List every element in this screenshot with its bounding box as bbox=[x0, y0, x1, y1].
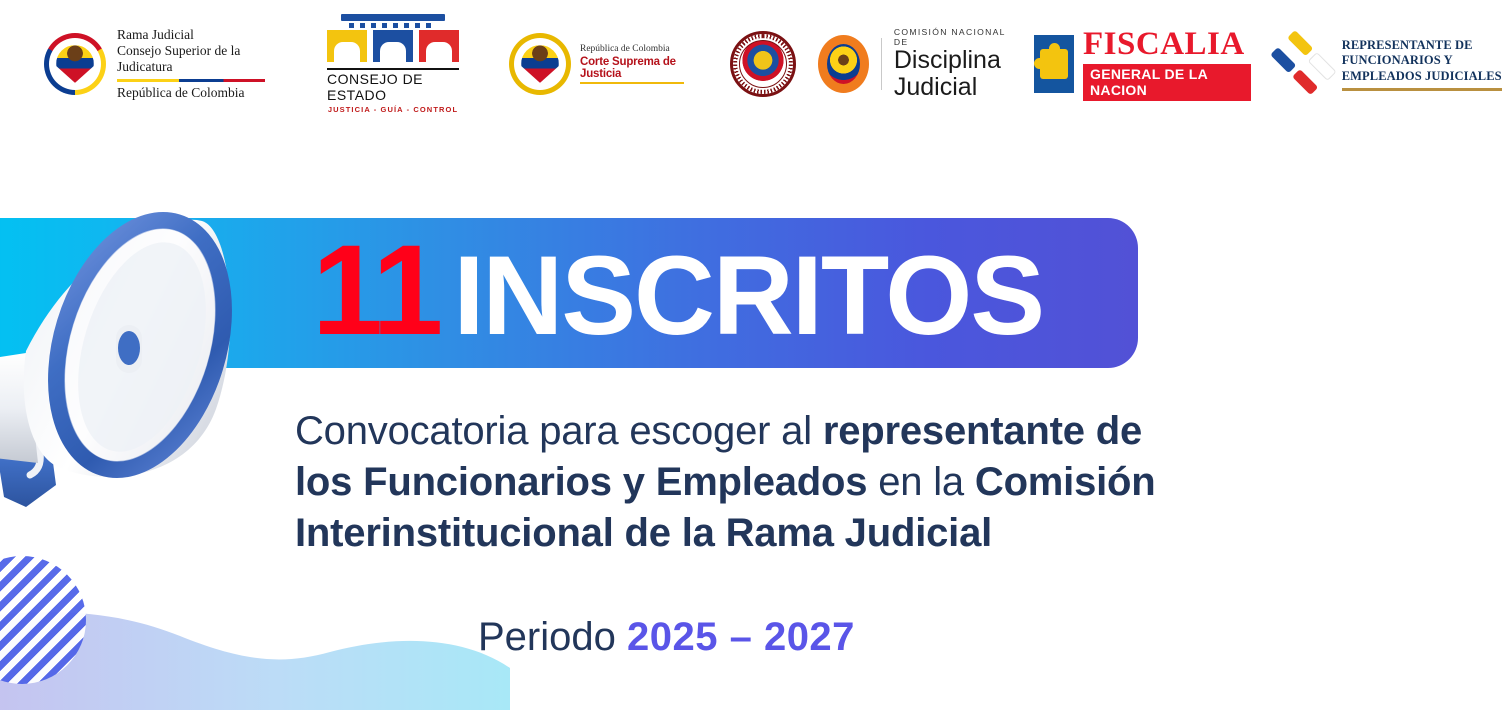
gold-rule bbox=[1342, 88, 1502, 91]
rama-judicial-line2: Consejo Superior de la Judicatura bbox=[117, 43, 265, 75]
corte-suprema-line2: Corte Suprema de Justicia bbox=[580, 56, 684, 80]
periodo-label: Periodo bbox=[478, 615, 627, 659]
copy-line1-bold: representante de bbox=[823, 409, 1142, 453]
divider bbox=[327, 68, 459, 70]
representante-line1: REPRESENTANTE DE bbox=[1342, 38, 1502, 54]
fiscalia-subtitle: GENERAL DE LA NACION bbox=[1083, 64, 1251, 101]
rama-judicial-line1: Rama Judicial bbox=[117, 27, 265, 43]
tricolor-rule bbox=[117, 79, 265, 82]
inscritos-banner: 11 INSCRITOS bbox=[0, 218, 1138, 368]
consejo-de-estado-building-icon bbox=[327, 14, 459, 66]
interlocking-hands-icon bbox=[1261, 23, 1343, 105]
copy-line2-plain: en la bbox=[867, 460, 975, 504]
consejo-de-estado-title: CONSEJO DE ESTADO bbox=[327, 71, 459, 103]
convocatoria-description: Convocatoria para escoger al representan… bbox=[295, 406, 1455, 559]
disciplina-judicial-line1: Disciplina bbox=[894, 47, 1008, 74]
poster-canvas: Rama Judicial Consejo Superior de la Jud… bbox=[0, 0, 1502, 710]
striped-circle bbox=[0, 556, 86, 684]
rama-judicial-line3: República de Colombia bbox=[117, 85, 265, 101]
wave-shape bbox=[0, 572, 550, 710]
logo-comision-nacional-de-disciplina-judicial: COMISIÓN NACIONAL DE Disciplina Judicial bbox=[818, 27, 1008, 101]
corte-constitucional-seal-icon bbox=[730, 31, 796, 97]
periodo-line: Periodo 2025 – 2027 bbox=[478, 613, 855, 661]
logo-corte-suprema-de-justicia: República de Colombia Corte Suprema de J… bbox=[509, 33, 684, 95]
copy-line1-plain: Convocatoria para escoger al bbox=[295, 409, 823, 453]
fiscalia-title: FISCALIA bbox=[1083, 27, 1251, 61]
copy-line2-bold-b: Comisión bbox=[975, 460, 1156, 504]
corte-suprema-line1: República de Colombia bbox=[580, 44, 684, 54]
colombia-coat-of-arms-icon bbox=[509, 33, 571, 95]
logo-fiscalia-general-de-la-nacion: FISCALIA GENERAL DE LA NACION bbox=[1034, 27, 1251, 101]
logo-rama-judicial: Rama Judicial Consejo Superior de la Jud… bbox=[44, 27, 265, 101]
fiscalia-puzzle-icon bbox=[1034, 35, 1074, 93]
disciplina-judicial-eyebrow: COMISIÓN NACIONAL DE bbox=[894, 27, 1008, 47]
logo-corte-constitucional bbox=[730, 31, 796, 97]
institution-logo-bar: Rama Judicial Consejo Superior de la Jud… bbox=[0, 0, 1502, 128]
representante-line2: FUNCIONARIOS Y bbox=[1342, 53, 1502, 69]
logo-representante-funcionarios-empleados: REPRESENTANTE DE FUNCIONARIOS Y EMPLEADO… bbox=[1273, 35, 1502, 93]
disciplina-judicial-line2: Judicial bbox=[894, 74, 1008, 101]
periodo-years: 2025 – 2027 bbox=[627, 615, 855, 659]
disciplina-judicial-seal-icon bbox=[818, 35, 869, 93]
colombia-coat-of-arms-icon bbox=[44, 33, 106, 95]
inscritos-label: INSCRITOS bbox=[453, 237, 1043, 355]
consejo-de-estado-subtitle: JUSTICIA - GUÍA - CONTROL bbox=[328, 105, 458, 114]
inscritos-count: 11 bbox=[312, 232, 439, 350]
gold-rule bbox=[580, 82, 684, 85]
vertical-divider bbox=[881, 38, 882, 90]
copy-line2-bold-a: los Funcionarios y Empleados bbox=[295, 460, 867, 504]
copy-line3-bold: Interinstitucional de la Rama Judicial bbox=[295, 511, 992, 555]
logo-consejo-de-estado: CONSEJO DE ESTADO JUSTICIA - GUÍA - CONT… bbox=[327, 14, 459, 114]
representante-line3: EMPLEADOS JUDICIALES bbox=[1342, 69, 1502, 85]
